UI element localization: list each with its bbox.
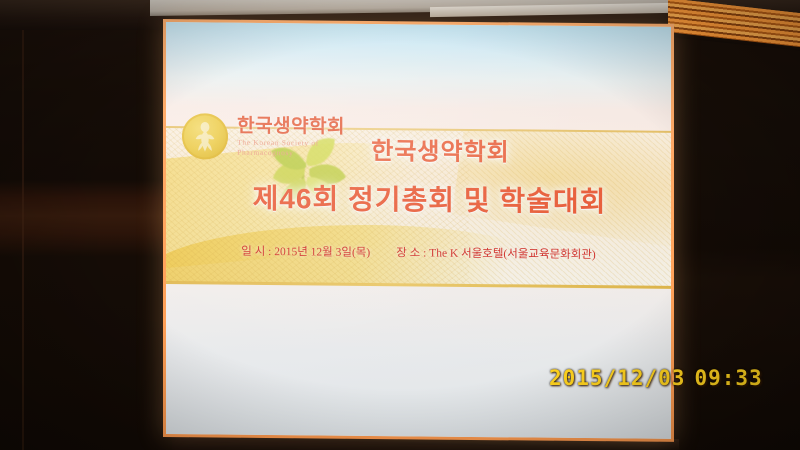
camera-timestamp: 2015/12/03 09:33 <box>549 366 763 390</box>
slide-date-label: 일 시 : 2015년 12월 3일(목) <box>241 246 370 259</box>
photograph-of-projection-screen: 한국생약학회 The Korean Society of Pharmacogno… <box>0 0 800 450</box>
slide-title-line2: 제46회 정기총회 및 학술대회 <box>188 176 671 221</box>
camera-time: 09:33 <box>694 366 762 390</box>
slide-title-line1: 한국생약학회 <box>210 130 671 169</box>
camera-date: 2015/12/03 <box>549 366 685 390</box>
slide-venue-label: 장 소 : The K 서울호텔(서울교육문화회관) <box>396 248 596 262</box>
slide-band-bottom <box>166 282 671 438</box>
left-wall <box>0 0 172 450</box>
left-wall-seam <box>22 0 24 450</box>
slide-headline: 한국생약학회 제46회 정기총회 및 학술대회 <box>166 129 671 221</box>
